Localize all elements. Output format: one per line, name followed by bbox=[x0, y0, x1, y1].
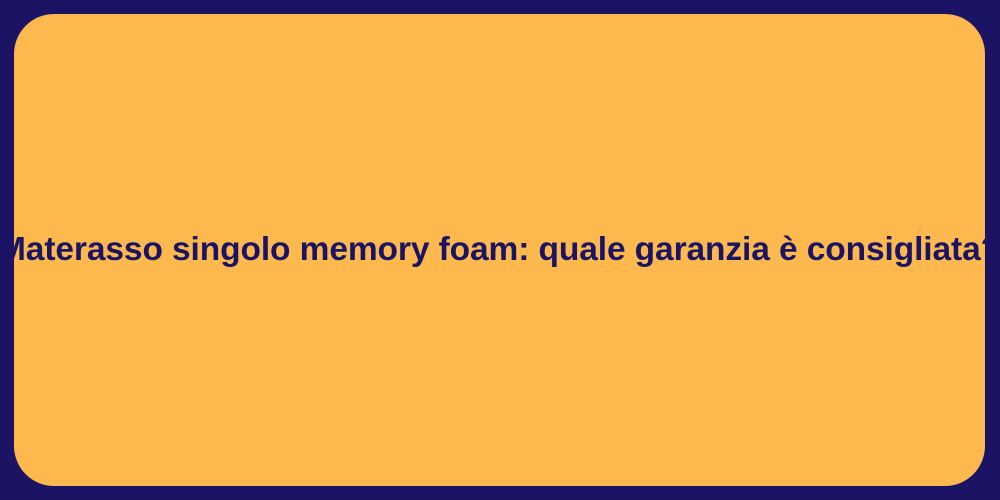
banner-panel: Materasso singolo memory foam: quale gar… bbox=[14, 14, 985, 486]
banner-frame: Materasso singolo memory foam: quale gar… bbox=[0, 0, 1000, 500]
banner-heading: Materasso singolo memory foam: quale gar… bbox=[0, 229, 1000, 271]
